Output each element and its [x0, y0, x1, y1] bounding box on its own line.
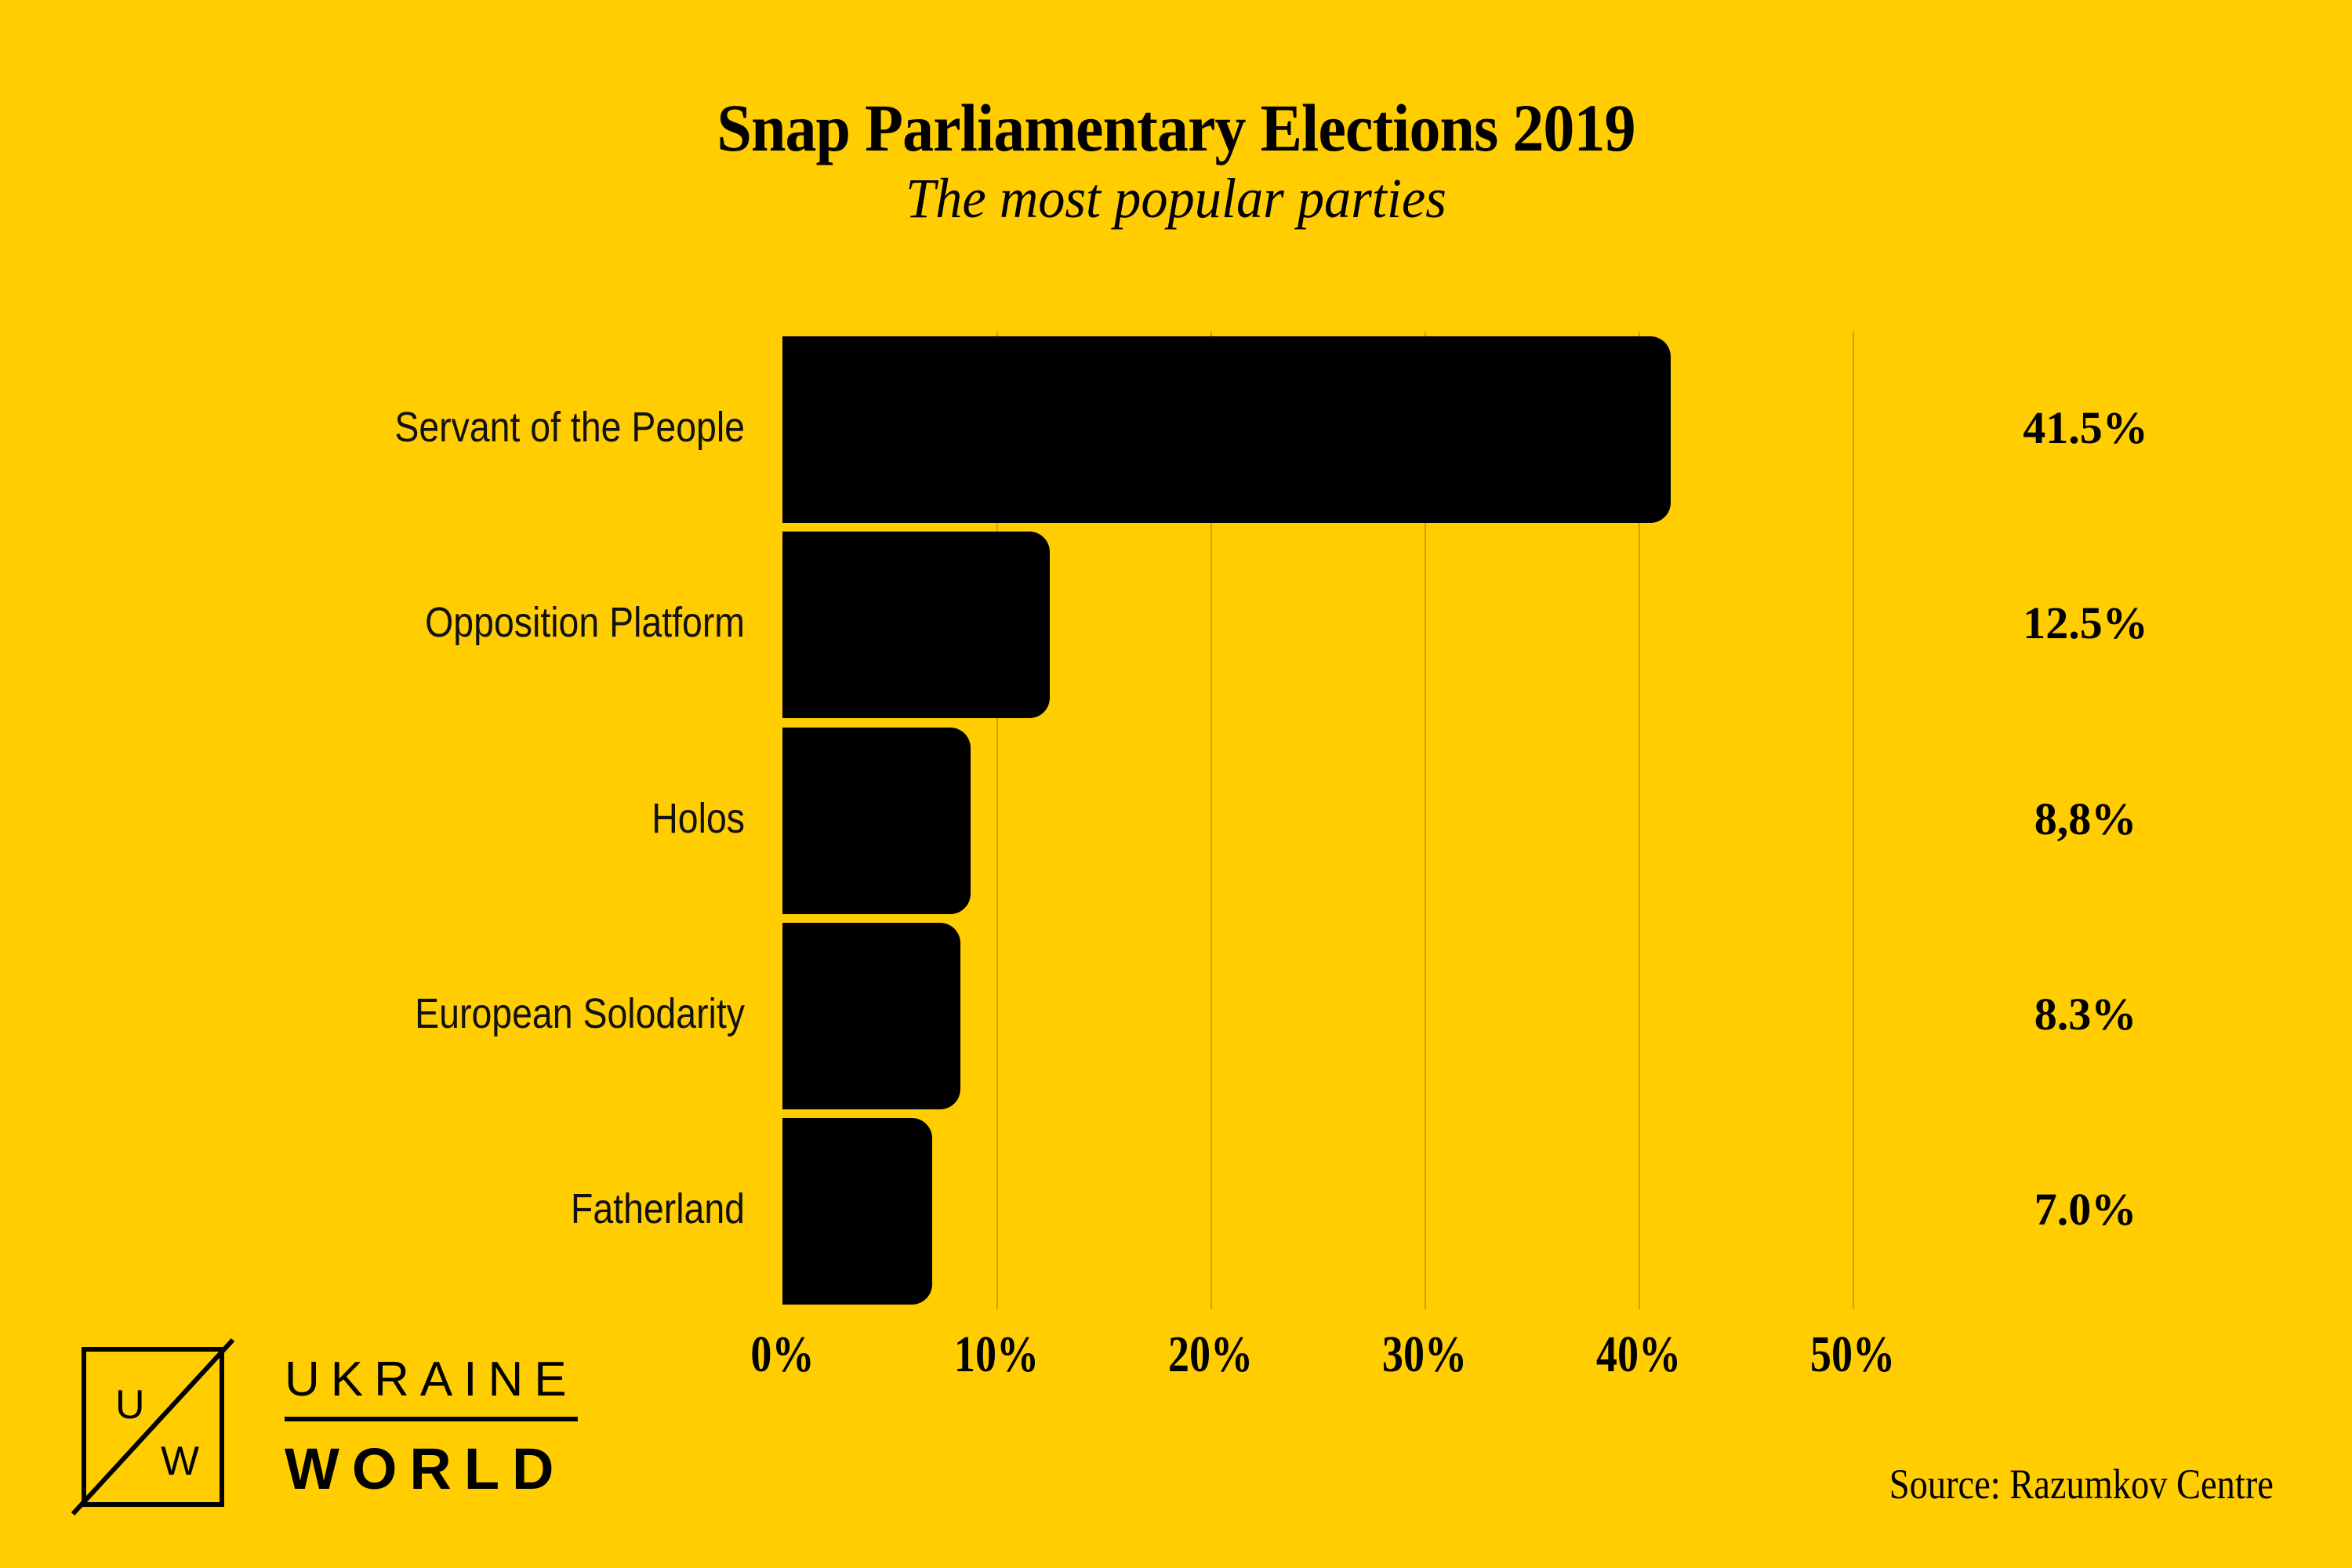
svg-text:U: U — [115, 1382, 145, 1428]
category-label: Servant of the People — [71, 403, 745, 452]
bar — [782, 1118, 932, 1305]
x-tick-label: 0% — [712, 1325, 853, 1385]
page-title: Snap Parliamentary Elections 2019 — [82, 94, 2270, 163]
value-label: 7.0% — [1921, 1183, 2250, 1236]
bar-row — [782, 923, 1958, 1109]
bar-row — [782, 336, 1958, 523]
bar — [782, 532, 1050, 718]
bar — [782, 728, 971, 914]
plot-area — [782, 332, 1958, 1309]
x-tick-label: 40% — [1568, 1325, 1709, 1385]
title-block: Snap Parliamentary Elections 2019 The mo… — [0, 94, 2352, 228]
category-label: Opposition Platform — [71, 598, 745, 647]
logo-wordmark: UKRAINE WORLD — [285, 1356, 578, 1498]
source-note: Source: Razumkov Centre — [1889, 1460, 2274, 1508]
logo-word-world: WORLD — [285, 1421, 578, 1498]
chart-poster: Snap Parliamentary Elections 2019 The mo… — [0, 0, 2352, 1568]
value-label: 41.5% — [1921, 401, 2250, 454]
x-tick-label: 20% — [1140, 1325, 1281, 1385]
category-label: Holos — [71, 794, 745, 843]
value-label: 12.5% — [1921, 597, 2250, 649]
category-label: European Solodarity — [71, 989, 745, 1038]
ukraine-world-logo: U W UKRAINE WORLD — [67, 1333, 578, 1521]
bar — [782, 923, 960, 1109]
value-labels: 41.5%12.5%8,8%8.3%7.0% — [1921, 332, 2313, 1309]
category-label: Fatherland — [71, 1185, 745, 1233]
value-label: 8,8% — [1921, 793, 2250, 845]
logo-word-ukraine: UKRAINE — [285, 1356, 578, 1421]
value-label: 8.3% — [1921, 988, 2250, 1040]
bar-row — [782, 728, 1958, 914]
x-tick-label: 10% — [926, 1325, 1067, 1385]
x-tick-label: 50% — [1782, 1325, 1923, 1385]
uw-monogram-icon: U W — [67, 1337, 247, 1517]
page-subtitle: The most popular parties — [59, 169, 2293, 229]
x-tick-label: 30% — [1354, 1325, 1495, 1385]
category-axis-labels: Servant of the PeopleOpposition Platform… — [0, 332, 745, 1309]
svg-text:W: W — [161, 1439, 199, 1484]
bar — [782, 336, 1671, 523]
bar-row — [782, 1118, 1958, 1305]
bar-row — [782, 532, 1958, 718]
